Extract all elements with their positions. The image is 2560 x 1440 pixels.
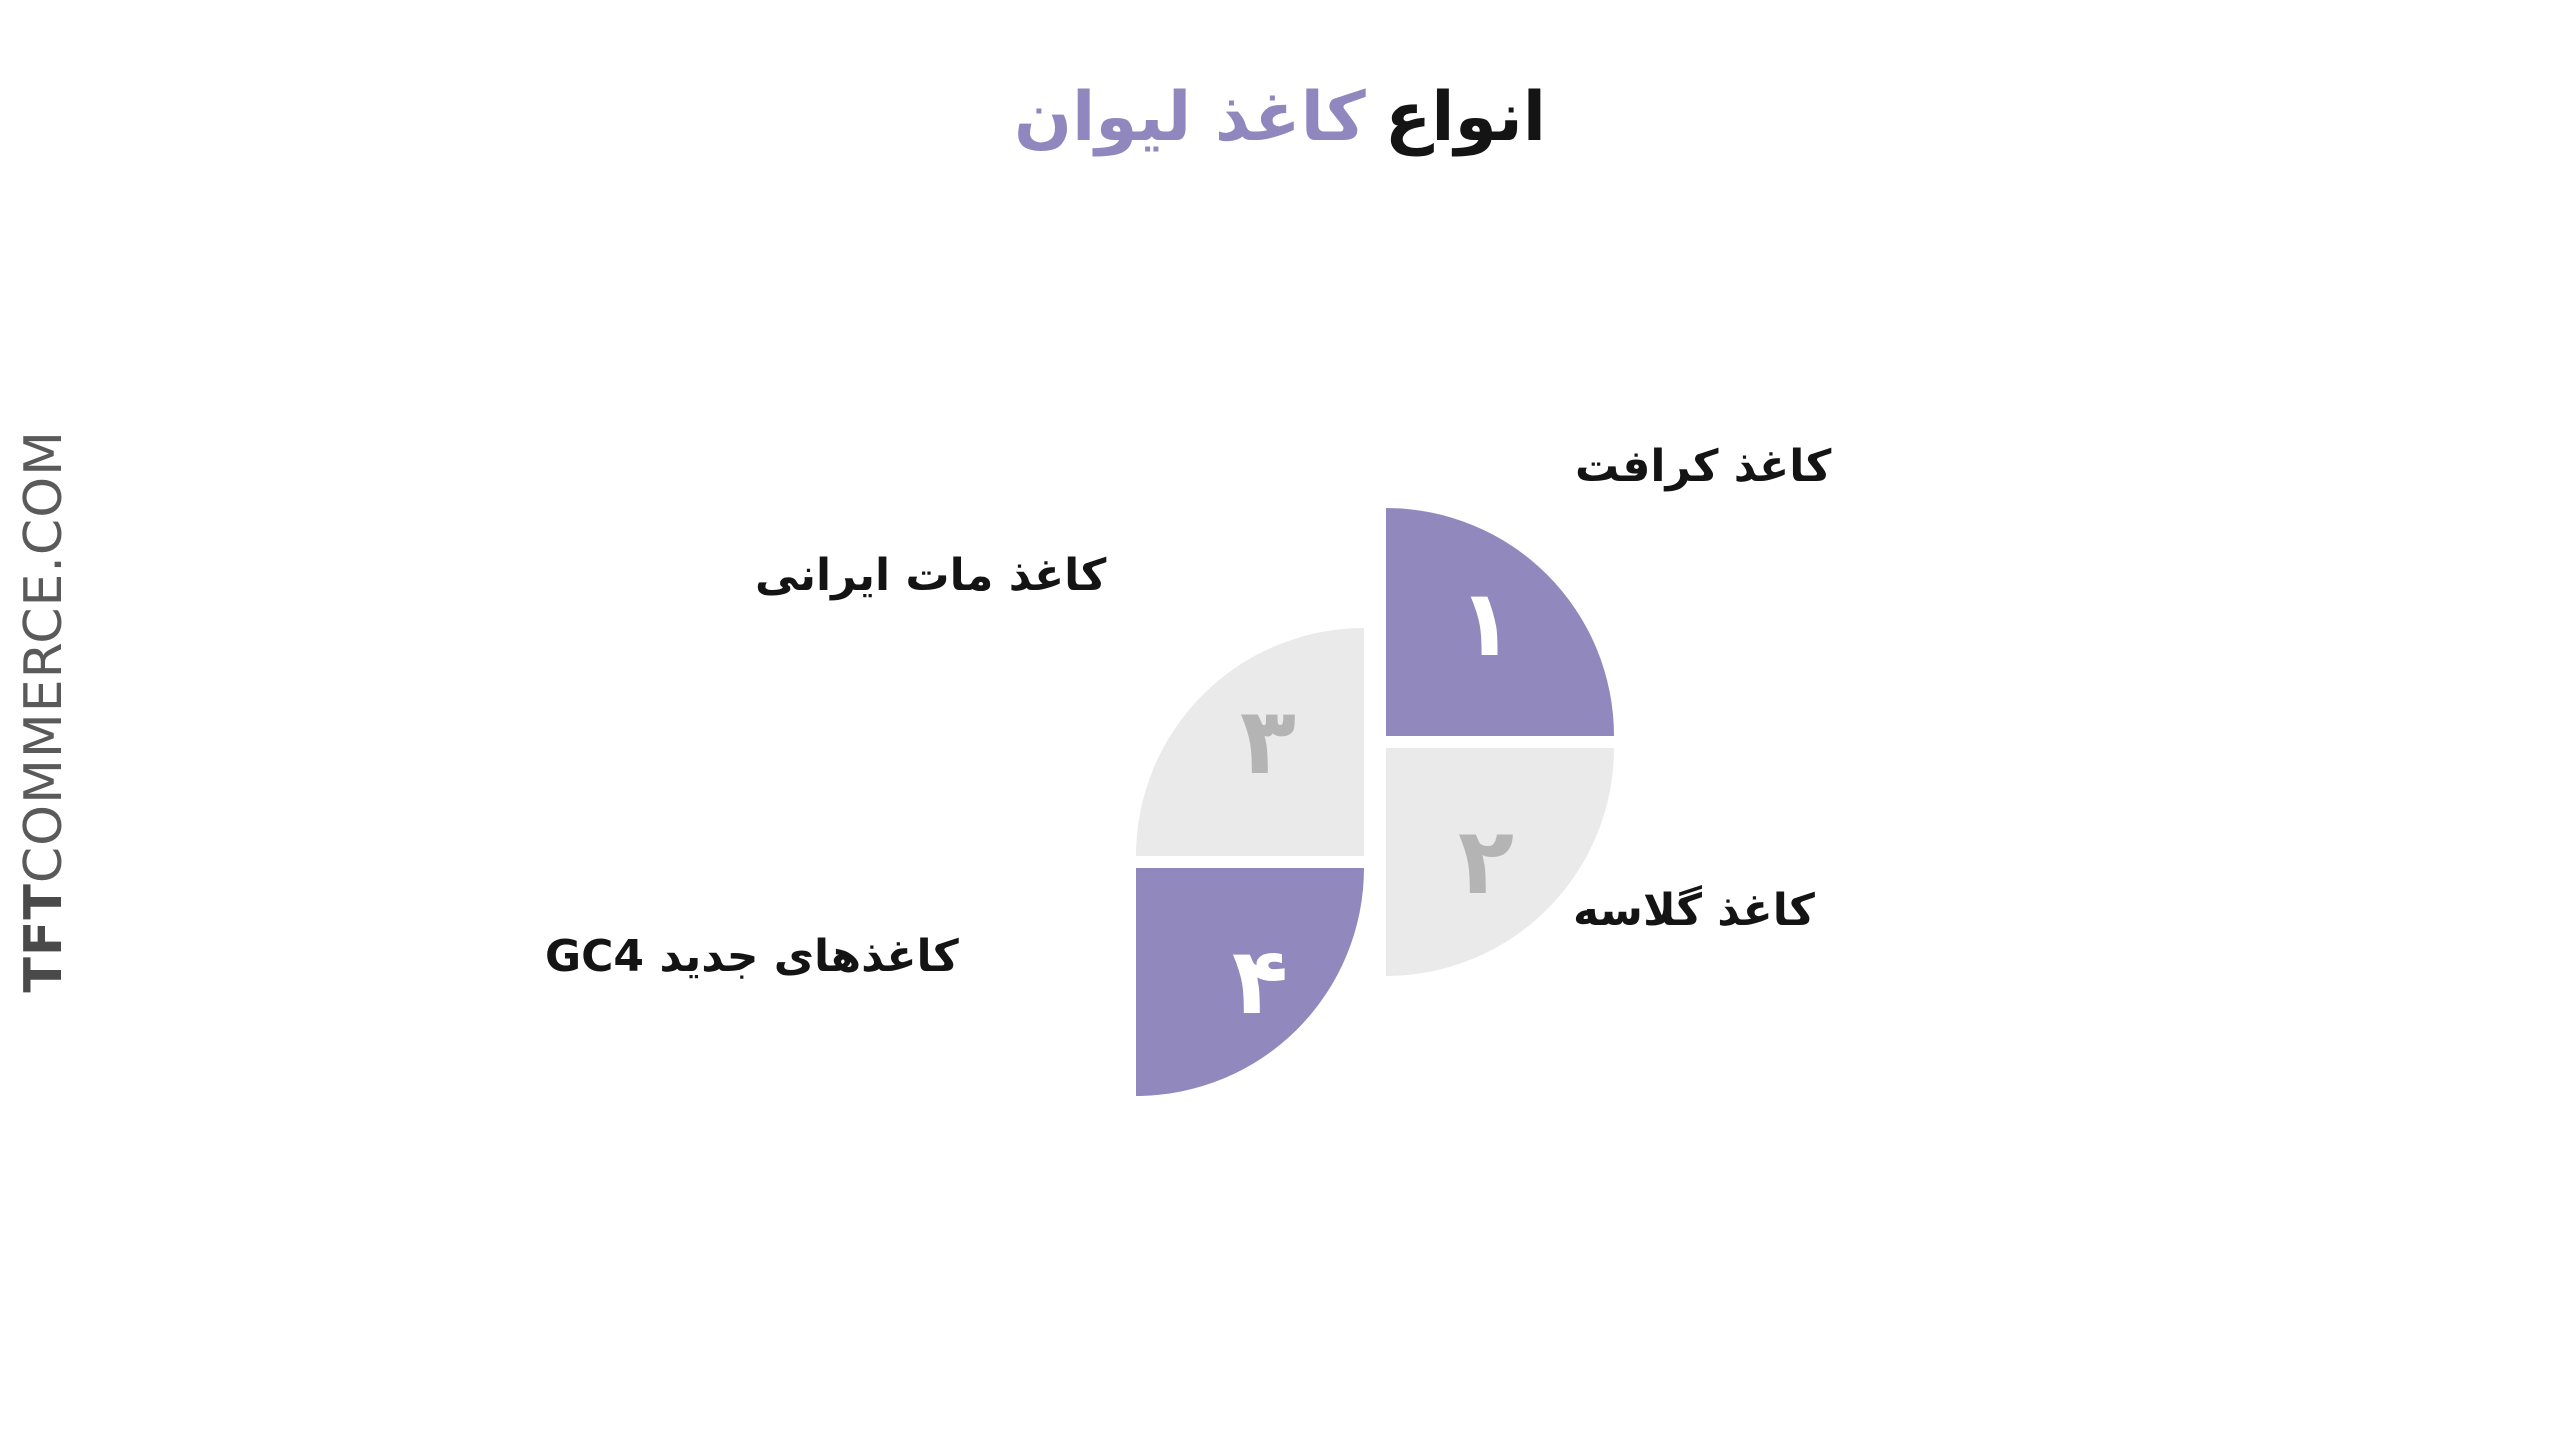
quadrant-segment-1[interactable]: ۱ xyxy=(1386,508,1614,736)
quadrant-label-3: کاغذ مات ایرانی xyxy=(755,552,1106,600)
page-title: انواع کاغذ لیوان xyxy=(0,78,2560,157)
quadrant-numeral-3: ۳ xyxy=(1240,696,1296,788)
page-title-plain: انواع xyxy=(1385,78,1546,157)
quadrant-segment-3[interactable]: ۳ xyxy=(1136,628,1364,856)
watermark-brand-bold: TFT xyxy=(14,883,74,992)
page-title-accent: کاغذ لیوان xyxy=(1014,78,1366,157)
watermark-brand: TFTCOMMERCE.COM xyxy=(18,430,70,993)
quadrant-label-4: کاغذهای جدید GC4 xyxy=(545,933,959,981)
quadrant-label-1: کاغذ کرافت xyxy=(1575,443,1831,491)
quadrant-numeral-1: ۱ xyxy=(1458,578,1514,670)
watermark-brand-domain: COMMERCE.COM xyxy=(14,430,74,883)
quadrant-segment-4[interactable]: ۴ xyxy=(1136,868,1364,1096)
quadrant-pie-diagram: ۱ ۲ ۳ ۴ xyxy=(1096,500,1656,1090)
quadrant-label-2: کاغذ گلاسه xyxy=(1573,887,1815,935)
quadrant-numeral-2: ۲ xyxy=(1458,816,1514,908)
quadrant-segment-2[interactable]: ۲ xyxy=(1386,748,1614,976)
quadrant-numeral-4: ۴ xyxy=(1232,936,1288,1028)
